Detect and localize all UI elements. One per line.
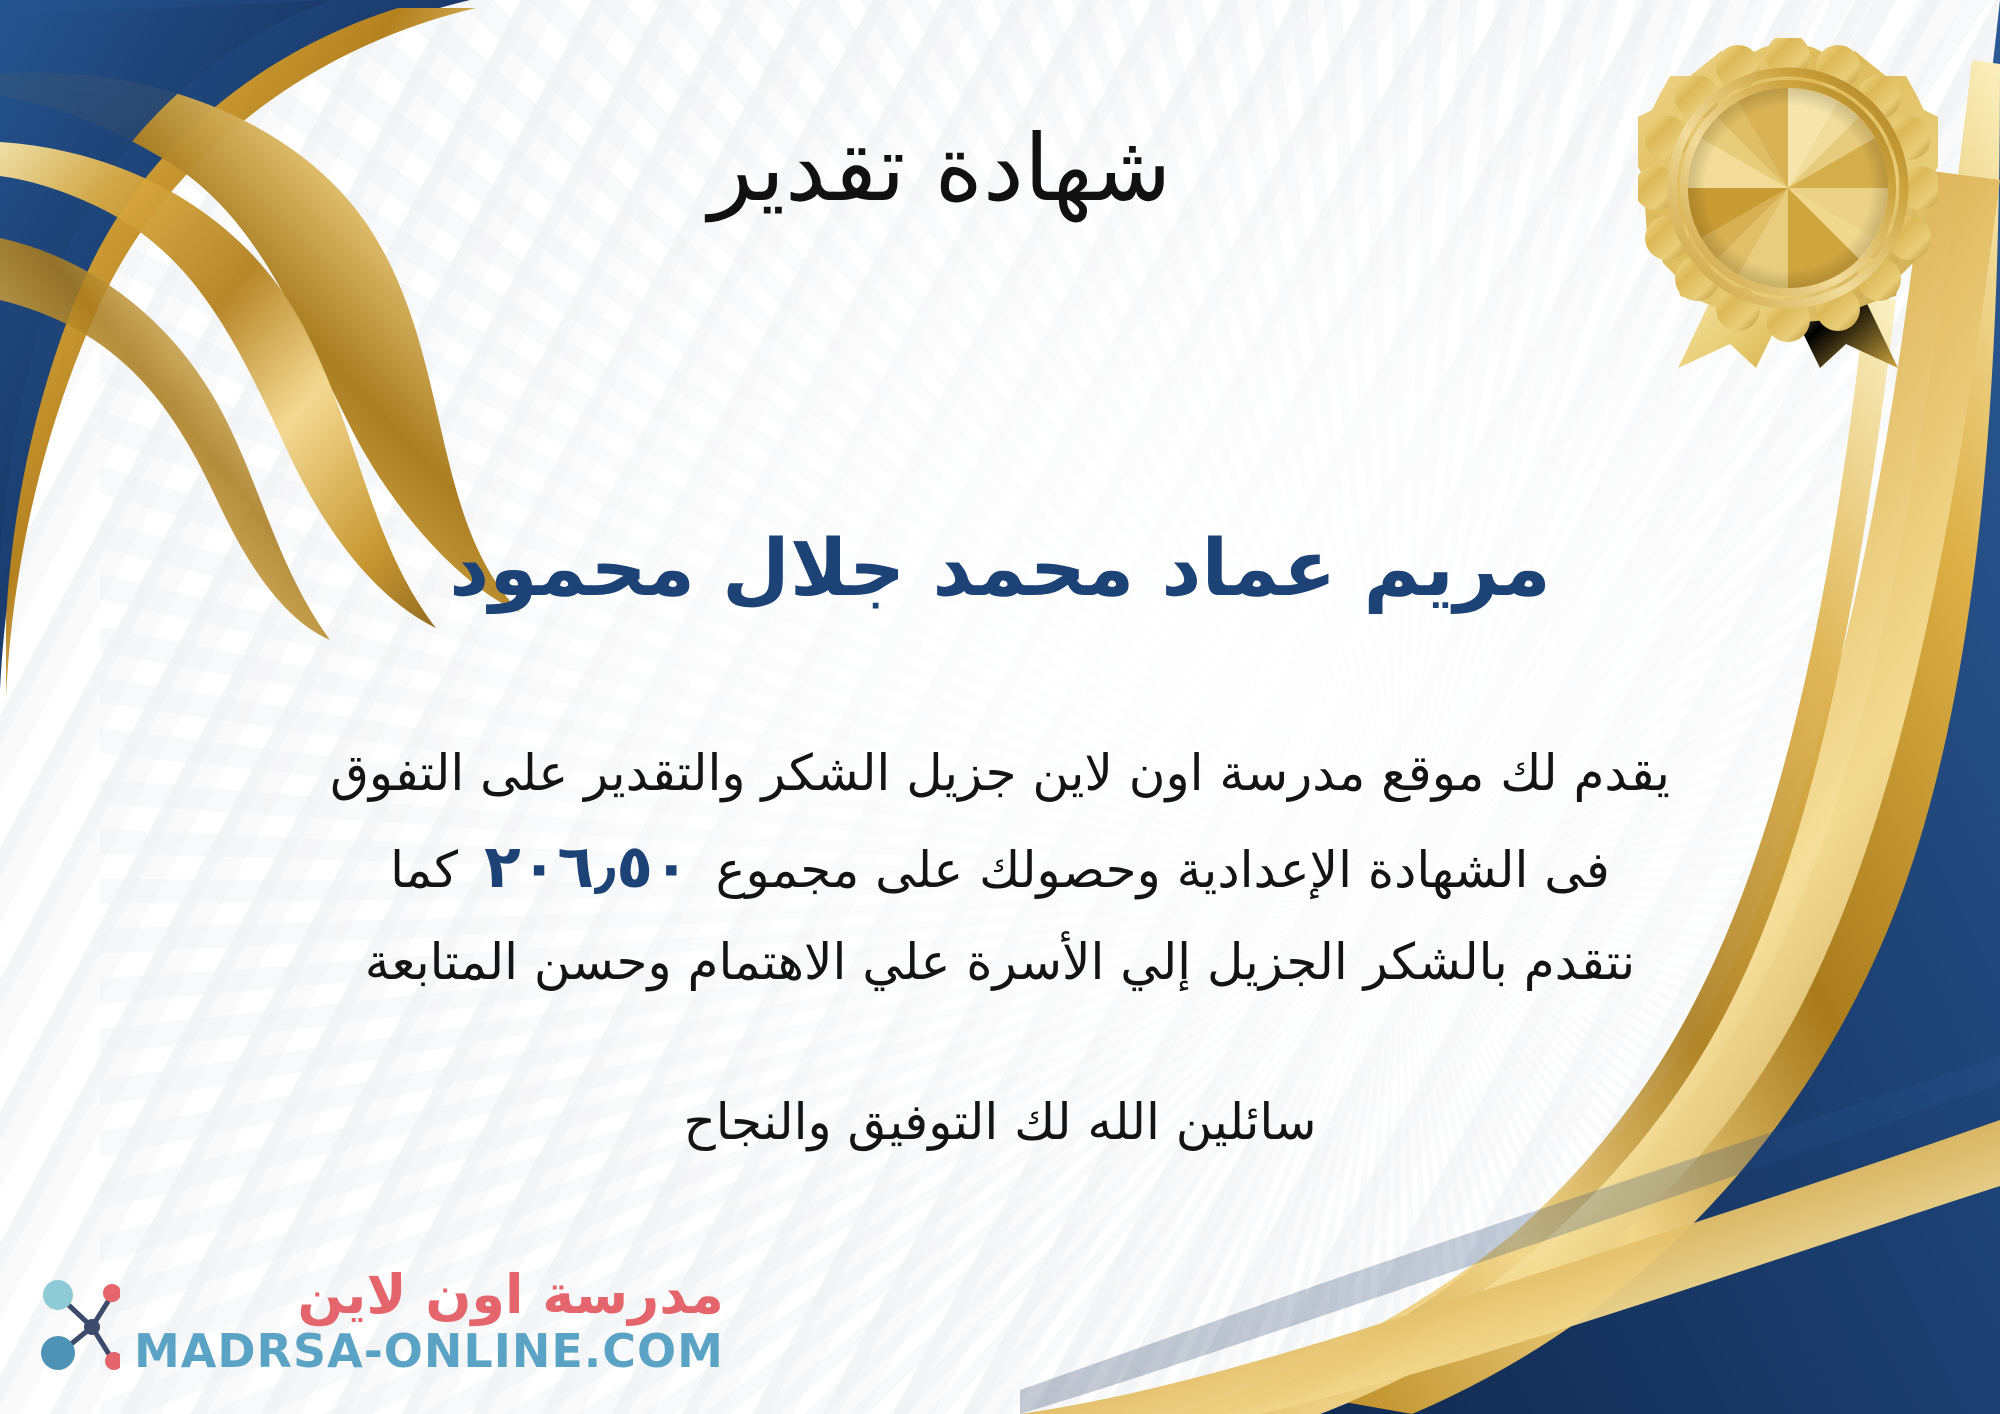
brand-text: مدرسة اون لاين MADRSA-ONLINE.COM [134,1267,724,1378]
recipient-name: مريم عماد محمد جلال محمود [0,525,2000,615]
body-line-2: فى الشهادة الإعدادية وحصولك على مجموع٢٠٦… [60,816,1940,919]
brand-arabic-name: مدرسة اون لاين [297,1267,723,1324]
brand-logo[interactable]: مدرسة اون لاين MADRSA-ONLINE.COM [34,1267,724,1378]
certificate-title: شهادة تقدير [0,118,2000,219]
body-line-2-suffix: كما [390,841,458,899]
body-line-1: يقدم لك موقع مدرسة اون لاين جزيل الشكر و… [60,730,1940,816]
closing-line: سائلين الله لك التوفيق والنجاح [60,1085,1940,1160]
body-line-3: نتقدم بالشكر الجزيل إلي الأسرة علي الاهت… [60,919,1940,1005]
body-line-2-prefix: فى الشهادة الإعدادية وحصولك على مجموع [716,841,1610,899]
total-score-value: ٢٠٦٫٥٠ [458,832,716,902]
brand-website[interactable]: MADRSA-ONLINE.COM [134,1324,724,1378]
network-nodes-icon [34,1275,120,1371]
certificate-canvas: شهادة تقدير مريم عماد محمد جلال محمود يق… [0,0,2000,1414]
certificate-body: يقدم لك موقع مدرسة اون لاين جزيل الشكر و… [60,730,1940,1005]
